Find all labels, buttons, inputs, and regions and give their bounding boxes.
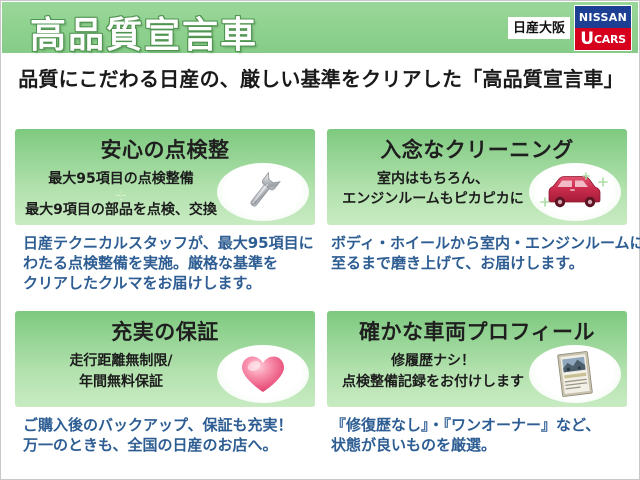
brand-group: 日産大阪 NISSAN UCARS [508,5,632,51]
ucars-logo-text: UCARS [575,28,631,50]
sparkling-car-icon [529,163,621,221]
card-subtext: 最大95項目の点検整備 + 最大9項目の部品を点検、交換 [15,169,227,220]
card-sub-line-2: 点検整備記録をお付けします [327,372,539,392]
card-subtext: 走行距離無制限/ 年間無料保証 [15,351,227,392]
nissan-ucars-logo: NISSAN UCARS [574,5,632,51]
card-description: ボディ・ホイールから室内・エンジンルームに 至るまで磨き上げて、お届けします。 [327,234,627,274]
desc-line-2: わたる点検整備を実施。厳格な基準を [23,254,315,274]
heart-icon [217,345,309,403]
desc-line-1: 『修復歴なし』・『ワンオーナー』など、 [331,416,627,436]
ucars-cars-letters: CARS [594,34,626,45]
card-heading: 確かな車両プロフィール [327,316,627,346]
sparkling-car-icon-glyph [539,168,611,216]
card-subtext: 室内はもちろん、 エンジンルームもピカピカに [327,169,539,210]
card-panel: 確かな車両プロフィール 修履歴ナシ！ 点検整備記録をお付けします [327,311,627,407]
desc-line-2: 万一のときも、全国の日産のお店へ。 [23,436,315,456]
desc-line-2: 状態が良いものを厳選。 [331,436,627,456]
wrench-icon [217,163,309,221]
card-sub-line-2: 最大9項目の部品を点検、交換 [15,200,227,220]
lead-headline: 品質にこだわる日産の、厳しい基準をクリアした「高品質宣言車」 [1,63,640,92]
card-heading: 入念なクリーニング [327,134,627,164]
card-heading: 安心の点検整 [15,134,315,164]
card-sub-line-1: 室内はもちろん、 [327,169,539,189]
header-bar: 高品質宣言車 日産大阪 NISSAN UCARS [2,2,638,55]
card-sub-line-1: 走行距離無制限/ [15,351,227,371]
desc-line-3: クリアしたクルマをお届けします。 [23,274,315,294]
card-panel: 充実の保証 走行距離無制限/ 年間無料保証 [15,311,315,407]
feature-card-cleaning: 入念なクリーニング 室内はもちろん、 エンジンルームもピカピカに [327,129,627,293]
nissan-logo-text: NISSAN [575,6,631,28]
document-record-icon-glyph [553,349,597,399]
card-heading: 充実の保証 [15,316,315,346]
feature-grid: 安心の点検整 最大95項目の点検整備 + 最大9項目の部品を点検、交換 [15,129,627,456]
plus-icon: + [15,189,227,200]
card-sub-line-1: 修履歴ナシ！ [327,351,539,371]
desc-line-1: ご購入後のバックアップ、保証も充実！ [23,416,315,436]
card-description: ご購入後のバックアップ、保証も充実！ 万一のときも、全国の日産のお店へ。 [15,416,315,456]
dealer-name: 日産大阪 [508,17,570,39]
card-sub-line-2: 年間無料保証 [15,372,227,392]
card-description: 日産テクニカルスタッフが、最大95項目に わたる点検整備を実施。厳格な基準を ク… [15,234,315,293]
feature-card-inspection: 安心の点検整 最大95項目の点検整備 + 最大9項目の部品を点検、交換 [15,129,315,293]
card-panel: 入念なクリーニング 室内はもちろん、 エンジンルームもピカピカに [327,129,627,225]
card-panel: 安心の点検整 最大95項目の点検整備 + 最大9項目の部品を点検、交換 [15,129,315,225]
card-description: 『修復歴なし』・『ワンオーナー』など、 状態が良いものを厳選。 [327,416,627,456]
ucars-u-letter: U [580,31,594,48]
poster-root: 高品質宣言車 日産大阪 NISSAN UCARS 品質にこだわる日産の、厳しい基… [0,0,640,480]
heart-icon-glyph [237,351,289,397]
feature-card-warranty: 充実の保証 走行距離無制限/ 年間無料保証 [15,311,315,456]
card-sub-line-2: エンジンルームもピカピカに [327,189,539,209]
page-title: 高品質宣言車 [30,6,258,58]
desc-line-1: ボディ・ホイールから室内・エンジンルームに [331,234,627,254]
document-record-icon [529,345,621,403]
wrench-icon-glyph [236,170,290,214]
feature-card-vehicle-profile: 確かな車両プロフィール 修履歴ナシ！ 点検整備記録をお付けします [327,311,627,456]
desc-line-1: 日産テクニカルスタッフが、最大95項目に [23,234,315,254]
card-subtext: 修履歴ナシ！ 点検整備記録をお付けします [327,351,539,392]
desc-line-2: 至るまで磨き上げて、お届けします。 [331,254,627,274]
